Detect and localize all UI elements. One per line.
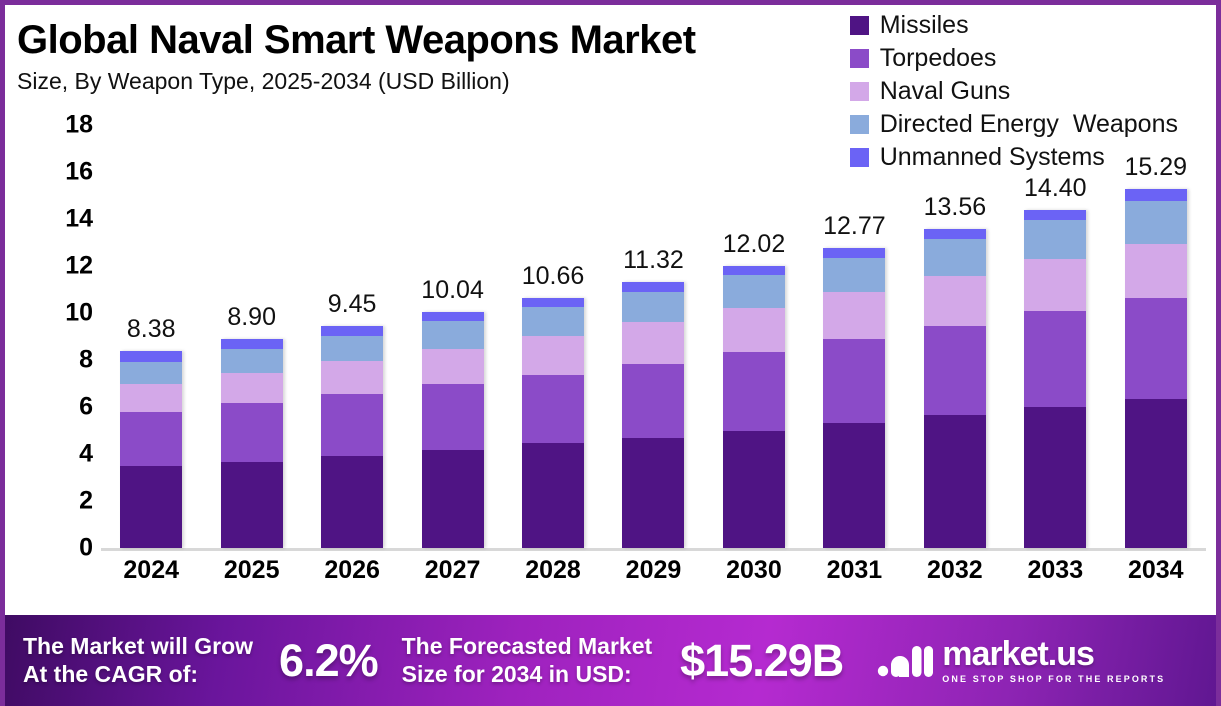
legend-item[interactable]: Missiles <box>850 9 1178 42</box>
bar-segment[interactable] <box>321 394 383 456</box>
stacked-bar[interactable] <box>1024 210 1086 548</box>
bar-segment[interactable] <box>522 443 584 548</box>
legend-swatch-icon <box>850 82 869 101</box>
bar-segment[interactable] <box>924 229 986 239</box>
bar-segment[interactable] <box>1024 210 1086 220</box>
bar-segment[interactable] <box>422 450 484 548</box>
bar-segment[interactable] <box>422 312 484 321</box>
bar-group[interactable]: 14.40 <box>1024 125 1086 548</box>
bar-segment[interactable] <box>1024 259 1086 311</box>
y-axis-tick-label: 10 <box>65 301 93 326</box>
bar-segment[interactable] <box>823 423 885 548</box>
bar-segment[interactable] <box>1024 311 1086 406</box>
bar-segment[interactable] <box>522 307 584 336</box>
bar-series-container: 8.388.909.4510.0410.6611.3212.0212.7713.… <box>101 125 1206 548</box>
bar-segment[interactable] <box>221 349 283 373</box>
bar-group[interactable]: 12.02 <box>723 125 785 548</box>
bar-total-label: 13.56 <box>924 195 987 220</box>
bar-segment[interactable] <box>422 384 484 449</box>
stacked-bar[interactable] <box>622 282 684 548</box>
infographic-root: Global Naval Smart Weapons Market Size, … <box>0 0 1221 706</box>
legend-swatch-icon <box>850 49 869 68</box>
y-axis-tick-label: 2 <box>79 489 93 514</box>
x-axis-tick-label: 2032 <box>924 558 986 583</box>
bar-group[interactable]: 15.29 <box>1125 125 1187 548</box>
x-axis-tick-label: 2027 <box>422 558 484 583</box>
legend-item-label: Naval Guns <box>880 79 1011 104</box>
bar-segment[interactable] <box>924 326 986 415</box>
bar-segment[interactable] <box>924 239 986 276</box>
bar-total-label: 10.66 <box>522 264 585 289</box>
bar-total-label: 9.45 <box>328 292 377 317</box>
bar-total-label: 15.29 <box>1124 155 1187 180</box>
forecast-label: The Forecasted Market Size for 2034 in U… <box>402 633 653 687</box>
bar-segment[interactable] <box>723 275 785 307</box>
x-axis-tick-label: 2024 <box>120 558 182 583</box>
page-title: Global Naval Smart Weapons Market <box>17 19 827 61</box>
y-axis-tick-label: 14 <box>65 207 93 232</box>
x-axis-tick-label: 2034 <box>1125 558 1187 583</box>
bar-segment[interactable] <box>823 258 885 292</box>
bar-segment[interactable] <box>221 339 283 349</box>
market-us-logo[interactable]: market.us ONE STOP SHOP FOR THE REPORTS <box>877 637 1165 684</box>
bar-group[interactable]: 11.32 <box>622 125 684 548</box>
bar-segment[interactable] <box>622 282 684 292</box>
page-subtitle: Size, By Weapon Type, 2025-2034 (USD Bil… <box>17 68 827 95</box>
bar-group[interactable]: 8.90 <box>221 125 283 548</box>
bar-group[interactable]: 12.77 <box>823 125 885 548</box>
bar-segment[interactable] <box>1024 220 1086 259</box>
bar-total-label: 14.40 <box>1024 176 1087 201</box>
bar-segment[interactable] <box>1125 201 1187 243</box>
logo-wordmark: market.us <box>942 637 1165 671</box>
x-axis-tick-label: 2029 <box>622 558 684 583</box>
bar-segment[interactable] <box>120 466 182 548</box>
bar-total-label: 12.02 <box>723 232 786 257</box>
bar-segment[interactable] <box>522 298 584 307</box>
legend-item-label: Missiles <box>880 13 969 38</box>
bar-segment[interactable] <box>422 321 484 348</box>
bar-segment[interactable] <box>1024 407 1086 548</box>
stacked-bar[interactable] <box>321 326 383 548</box>
stacked-bar[interactable] <box>120 351 182 548</box>
bar-segment[interactable] <box>723 308 785 352</box>
stacked-bar[interactable] <box>522 298 584 548</box>
bar-segment[interactable] <box>321 326 383 336</box>
bar-segment[interactable] <box>422 349 484 385</box>
bar-total-label: 12.77 <box>823 214 886 239</box>
stacked-bar[interactable] <box>422 312 484 548</box>
bar-total-label: 8.90 <box>227 305 276 330</box>
legend-swatch-icon <box>850 16 869 35</box>
logo-tagline: ONE STOP SHOP FOR THE REPORTS <box>942 675 1165 684</box>
x-axis-tick-label: 2031 <box>823 558 885 583</box>
bar-segment[interactable] <box>1125 399 1187 548</box>
bar-segment[interactable] <box>1125 189 1187 202</box>
legend-item-label: Torpedoes <box>880 46 997 71</box>
footer-banner: The Market will Grow At the CAGR of: 6.2… <box>5 615 1221 706</box>
bar-segment[interactable] <box>221 403 283 462</box>
cagr-value: 6.2% <box>279 635 378 687</box>
bar-group[interactable]: 13.56 <box>924 125 986 548</box>
bar-segment[interactable] <box>622 322 684 363</box>
logo-text-wrap: market.us ONE STOP SHOP FOR THE REPORTS <box>942 637 1165 684</box>
bar-segment[interactable] <box>723 352 785 431</box>
y-axis-tick-label: 16 <box>65 160 93 185</box>
x-axis-tick-label: 2028 <box>522 558 584 583</box>
stacked-bar[interactable] <box>924 229 986 548</box>
header: Global Naval Smart Weapons Market Size, … <box>17 19 827 95</box>
x-axis: 2024202520262027202820292030203120322033… <box>101 558 1206 583</box>
bar-segment[interactable] <box>723 431 785 548</box>
chart-plot-area: 181614121086420 8.388.909.4510.0410.6611… <box>5 125 1216 555</box>
bar-segment[interactable] <box>321 336 383 361</box>
bar-segment[interactable] <box>522 375 584 443</box>
bar-segment[interactable] <box>221 462 283 548</box>
bar-segment[interactable] <box>1125 244 1187 298</box>
legend-item[interactable]: Torpedoes <box>850 42 1178 75</box>
stacked-bar[interactable] <box>823 248 885 548</box>
y-axis-tick-label: 0 <box>79 536 93 561</box>
bar-segment[interactable] <box>321 361 383 394</box>
bar-segment[interactable] <box>823 339 885 423</box>
cagr-label: The Market will Grow At the CAGR of: <box>23 633 253 687</box>
bar-segment[interactable] <box>823 248 885 258</box>
y-axis-tick-label: 6 <box>79 395 93 420</box>
bar-segment[interactable] <box>723 266 785 276</box>
market-us-logo-mark <box>877 640 933 682</box>
bar-segment[interactable] <box>622 292 684 323</box>
y-axis-tick-label: 4 <box>79 442 93 467</box>
bar-segment[interactable] <box>1125 298 1187 399</box>
stacked-bar[interactable] <box>1125 189 1187 548</box>
bar-total-label: 10.04 <box>421 278 484 303</box>
bar-segment[interactable] <box>522 336 584 375</box>
bar-segment[interactable] <box>120 362 182 384</box>
bar-group[interactable]: 10.04 <box>422 125 484 548</box>
y-axis: 181614121086420 <box>41 125 93 550</box>
stacked-bar[interactable] <box>221 339 283 548</box>
bar-group[interactable]: 8.38 <box>120 125 182 548</box>
bar-total-label: 8.38 <box>127 317 176 342</box>
bar-total-label: 11.32 <box>623 248 684 273</box>
bar-segment[interactable] <box>924 276 986 326</box>
bar-segment[interactable] <box>622 364 684 438</box>
x-axis-tick-label: 2026 <box>321 558 383 583</box>
y-axis-tick-label: 8 <box>79 348 93 373</box>
x-axis-tick-label: 2025 <box>221 558 283 583</box>
y-axis-tick-label: 18 <box>65 113 93 138</box>
bar-segment[interactable] <box>924 415 986 548</box>
bar-segment[interactable] <box>120 384 182 413</box>
x-axis-baseline <box>101 548 1206 551</box>
legend-item[interactable]: Naval Guns <box>850 75 1178 108</box>
bar-group[interactable]: 10.66 <box>522 125 584 548</box>
y-axis-tick-label: 12 <box>65 254 93 279</box>
bar-segment[interactable] <box>120 412 182 466</box>
bar-segment[interactable] <box>321 456 383 548</box>
x-axis-tick-label: 2033 <box>1024 558 1086 583</box>
bar-segment[interactable] <box>120 351 182 362</box>
forecast-value: $15.29B <box>680 635 843 687</box>
bar-segment[interactable] <box>823 292 885 339</box>
stacked-bar[interactable] <box>723 266 785 548</box>
x-axis-tick-label: 2030 <box>723 558 785 583</box>
bar-group[interactable]: 9.45 <box>321 125 383 548</box>
bar-segment[interactable] <box>221 373 283 403</box>
bar-segment[interactable] <box>622 438 684 548</box>
